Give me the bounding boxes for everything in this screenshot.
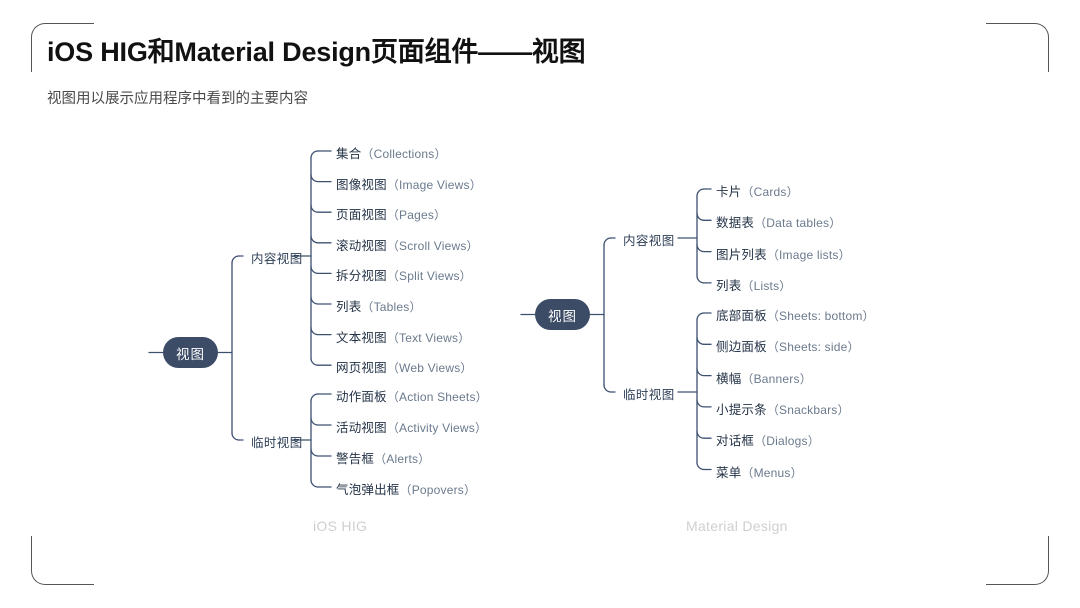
leaf-label-cn: 小提示条 (716, 403, 767, 417)
connector (311, 205, 331, 212)
leaf-label-en: （Collections） (361, 147, 446, 161)
leaf-node[interactable]: 图像视图（Image Views） (336, 174, 482, 193)
leaf-node[interactable]: 列表（Lists） (716, 275, 791, 294)
leaf-node[interactable]: 侧边面板（Sheets: side） (716, 336, 860, 355)
leaf-label-en: （Alerts） (374, 452, 430, 466)
leaf-node[interactable]: 图片列表（Image lists） (716, 244, 851, 263)
leaf-node[interactable]: 底部面板（Sheets: bottom） (716, 305, 875, 324)
leaf-label-en: （Data tables） (754, 216, 841, 230)
leaf-label-cn: 图片列表 (716, 248, 767, 262)
connector (311, 236, 331, 243)
leaf-label-en: （Image Views） (387, 178, 482, 192)
connector (697, 245, 711, 252)
leaf-node[interactable]: 数据表（Data tables） (716, 212, 841, 231)
branch-node-ios-hig-0[interactable]: 内容视图 (251, 248, 303, 267)
leaf-node[interactable]: 卡片（Cards） (716, 181, 799, 200)
leaf-node[interactable]: 气泡弹出框（Popovers） (336, 479, 476, 498)
leaf-node[interactable]: 警告框（Alerts） (336, 448, 430, 467)
leaf-node[interactable]: 列表（Tables） (336, 296, 422, 315)
connector (311, 418, 331, 425)
leaf-label-cn: 菜单 (716, 466, 741, 480)
leaf-label-en: （Scroll Views） (387, 239, 479, 253)
leaf-node[interactable]: 页面视图（Pages） (336, 204, 446, 223)
leaf-label-en: （Cards） (741, 185, 798, 199)
leaf-node[interactable]: 集合（Collections） (336, 143, 447, 162)
connector (232, 256, 239, 263)
leaf-label-cn: 气泡弹出框 (336, 483, 400, 497)
leaf-node[interactable]: 文本视图（Text Views） (336, 327, 470, 346)
leaf-label-cn: 文本视图 (336, 331, 387, 345)
leaf-label-en: （Popovers） (400, 483, 477, 497)
leaf-label-cn: 列表 (336, 300, 361, 314)
leaf-label-en: （Snackbars） (767, 403, 850, 417)
leaf-node[interactable]: 小提示条（Snackbars） (716, 399, 850, 418)
leaf-node[interactable]: 横幅（Banners） (716, 368, 812, 387)
connector (697, 463, 704, 470)
tree-caption-ios-hig: iOS HIG (313, 518, 367, 534)
branch-node-material-design-1[interactable]: 临时视图 (623, 384, 675, 403)
connector (311, 297, 331, 304)
page-title: iOS HIG和Material Design页面组件——视图 (47, 30, 585, 69)
leaf-label-en: （Text Views） (387, 331, 471, 345)
leaf-node[interactable]: 对话框（Dialogs） (716, 430, 820, 449)
leaf-label-cn: 活动视图 (336, 421, 387, 435)
leaf-label-cn: 网页视图 (336, 361, 387, 375)
leaf-label-cn: 对话框 (716, 434, 754, 448)
connector (311, 394, 318, 401)
leaf-label-en: （Split Views） (387, 269, 472, 283)
connector (697, 276, 704, 283)
leaf-node[interactable]: 菜单（Menus） (716, 462, 803, 481)
leaf-label-cn: 警告框 (336, 452, 374, 466)
leaf-label-en: （Menus） (741, 466, 802, 480)
leaf-label-cn: 图像视图 (336, 178, 387, 192)
leaf-label-en: （Web Views） (387, 361, 473, 375)
connector (604, 385, 611, 392)
connector (232, 433, 239, 440)
connector (697, 189, 704, 196)
leaf-node[interactable]: 动作面板（Action Sheets） (336, 386, 488, 405)
connector (697, 313, 704, 320)
corner-bracket-top-right (986, 23, 1049, 72)
leaf-label-en: （Activity Views） (387, 421, 487, 435)
leaf-label-cn: 侧边面板 (716, 340, 767, 354)
connector (697, 337, 711, 344)
leaf-node[interactable]: 拆分视图（Split Views） (336, 265, 472, 284)
leaf-label-en: （Tables） (361, 300, 421, 314)
connector (311, 480, 318, 487)
leaf-label-en: （Image lists） (767, 248, 851, 262)
tree-caption-material-design: Material Design (686, 518, 788, 534)
leaf-label-cn: 拆分视图 (336, 269, 387, 283)
root-node-material-design[interactable]: 视图 (535, 299, 590, 330)
leaf-label-en: （Sheets: side） (767, 340, 860, 354)
leaf-node[interactable]: 网页视图（Web Views） (336, 357, 473, 376)
connector (697, 213, 711, 220)
leaf-label-cn: 卡片 (716, 185, 741, 199)
corner-bracket-bottom-right (986, 536, 1049, 585)
leaf-label-cn: 底部面板 (716, 309, 767, 323)
connector (311, 449, 331, 456)
connector (697, 400, 711, 407)
connector (604, 238, 611, 245)
connector (311, 358, 318, 365)
leaf-label-cn: 横幅 (716, 372, 741, 386)
leaf-label-en: （Sheets: bottom） (767, 309, 875, 323)
root-node-ios-hig[interactable]: 视图 (163, 337, 218, 368)
leaf-node[interactable]: 滚动视图（Scroll Views） (336, 235, 479, 254)
connector (697, 369, 711, 376)
corner-bracket-bottom-left (31, 536, 94, 585)
connector (311, 151, 318, 158)
slide-page: iOS HIG和Material Design页面组件——视图 视图用以展示应用… (0, 0, 1080, 608)
branch-node-material-design-0[interactable]: 内容视图 (623, 230, 675, 249)
connector (311, 266, 331, 273)
leaf-node[interactable]: 活动视图（Activity Views） (336, 417, 487, 436)
leaf-label-cn: 集合 (336, 147, 361, 161)
leaf-label-en: （Action Sheets） (387, 390, 488, 404)
leaf-label-en: （Lists） (741, 279, 791, 293)
branch-node-ios-hig-1[interactable]: 临时视图 (251, 432, 303, 451)
connector (311, 175, 331, 182)
page-subtitle: 视图用以展示应用程序中看到的主要内容 (47, 87, 308, 108)
leaf-label-en: （Dialogs） (754, 434, 820, 448)
leaf-label-cn: 滚动视图 (336, 239, 387, 253)
leaf-label-en: （Banners） (741, 372, 812, 386)
connector (311, 328, 331, 335)
leaf-label-cn: 页面视图 (336, 208, 387, 222)
leaf-label-cn: 列表 (716, 279, 741, 293)
connector (697, 431, 711, 438)
leaf-label-cn: 数据表 (716, 216, 754, 230)
leaf-label-cn: 动作面板 (336, 390, 387, 404)
leaf-label-en: （Pages） (387, 208, 446, 222)
